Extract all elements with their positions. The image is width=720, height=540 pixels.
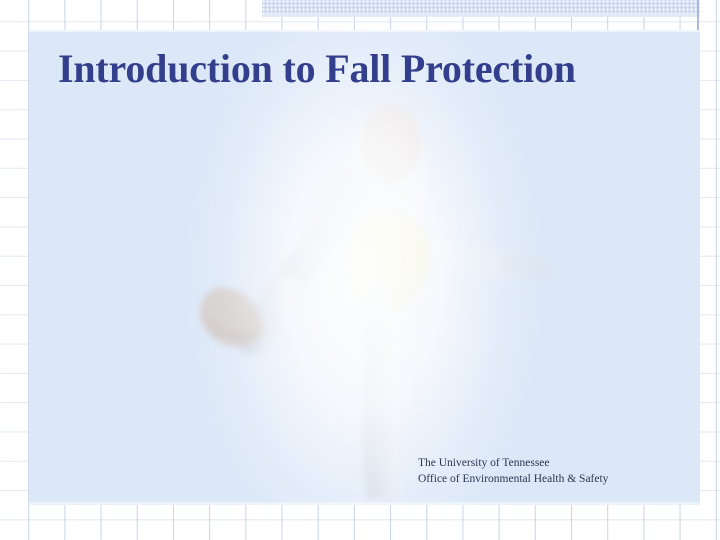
affiliation-block: The University of Tennessee Office of En…	[418, 456, 608, 487]
slide-content-panel	[29, 30, 700, 505]
slide-title: Introduction to Fall Protection	[58, 46, 658, 92]
presentation-slide: Introduction to Fall Protection The Univ…	[0, 0, 720, 540]
panel-light-wash-overlay	[29, 30, 700, 505]
top-band-underline-decoration	[262, 14, 700, 17]
top-dotted-band-decoration	[262, 0, 700, 14]
affiliation-organization: The University of Tennessee	[418, 456, 608, 472]
panel-bottom-edge-highlight	[29, 502, 700, 505]
affiliation-department: Office of Environmental Health & Safety	[418, 472, 608, 488]
